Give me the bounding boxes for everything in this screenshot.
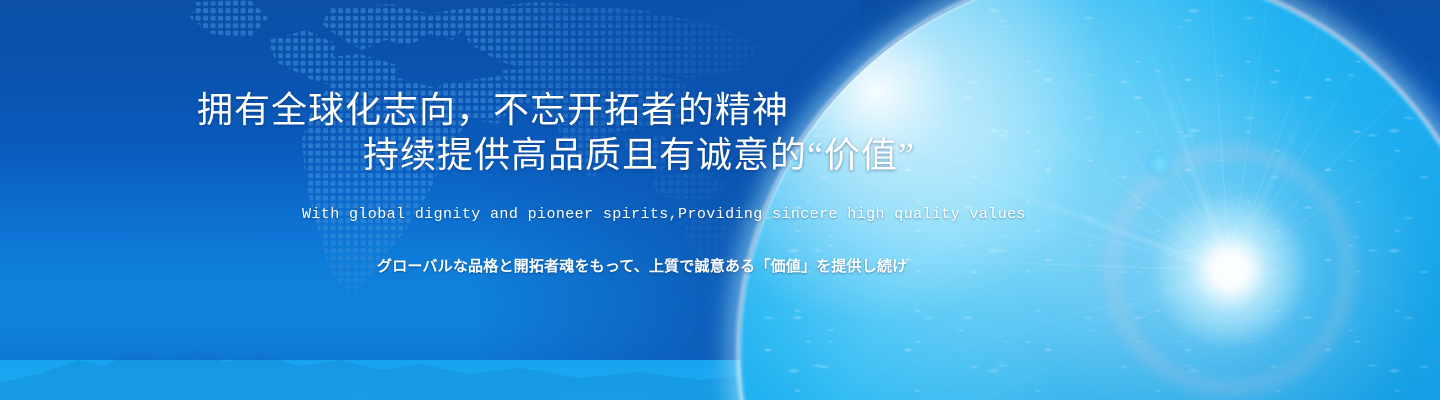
headline-line-2: 持续提供高品质且有诚意的“价值” — [363, 137, 915, 173]
subtitle-english: With global dignity and pioneer spirits,… — [302, 207, 1026, 222]
subtitle-japanese: グローバルな品格と開拓者魂をもって、上質で誠意ある「価値」を提供し続け — [377, 259, 907, 274]
hero-banner: 拥有全球化志向，不忘开拓者的精神 持续提供高品质且有诚意的“价值” With g… — [0, 0, 1440, 400]
banner-text-block: 拥有全球化志向，不忘开拓者的精神 持续提供高品质且有诚意的“价值” With g… — [0, 0, 1440, 400]
headline-line-1: 拥有全球化志向，不忘开拓者的精神 — [197, 92, 789, 128]
